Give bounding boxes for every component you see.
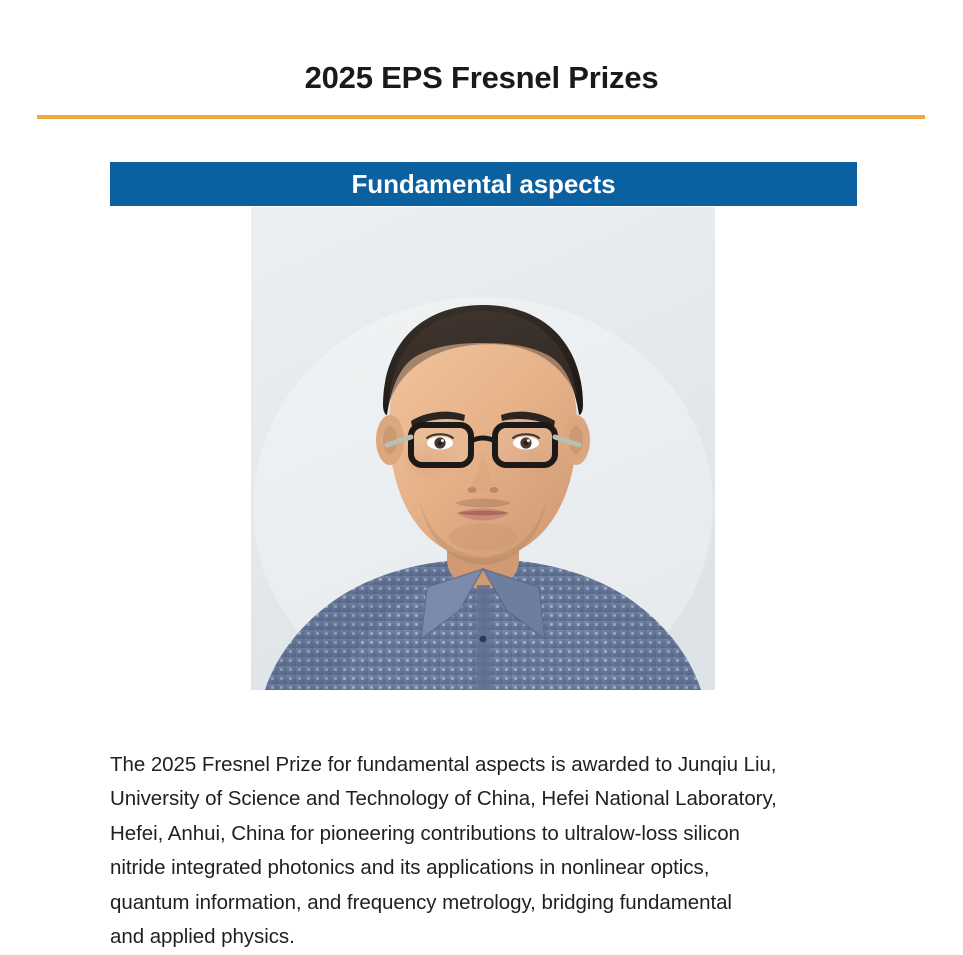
section-banner-fundamental-aspects: Fundamental aspects <box>110 162 857 206</box>
section-banner-label: Fundamental aspects <box>352 170 616 198</box>
page-title: 2025 EPS Fresnel Prizes <box>0 58 963 98</box>
orange-divider <box>37 115 925 119</box>
laureate-portrait-photo <box>251 207 715 690</box>
award-citation-text: The 2025 Fresnel Prize for fundamental a… <box>110 748 870 955</box>
